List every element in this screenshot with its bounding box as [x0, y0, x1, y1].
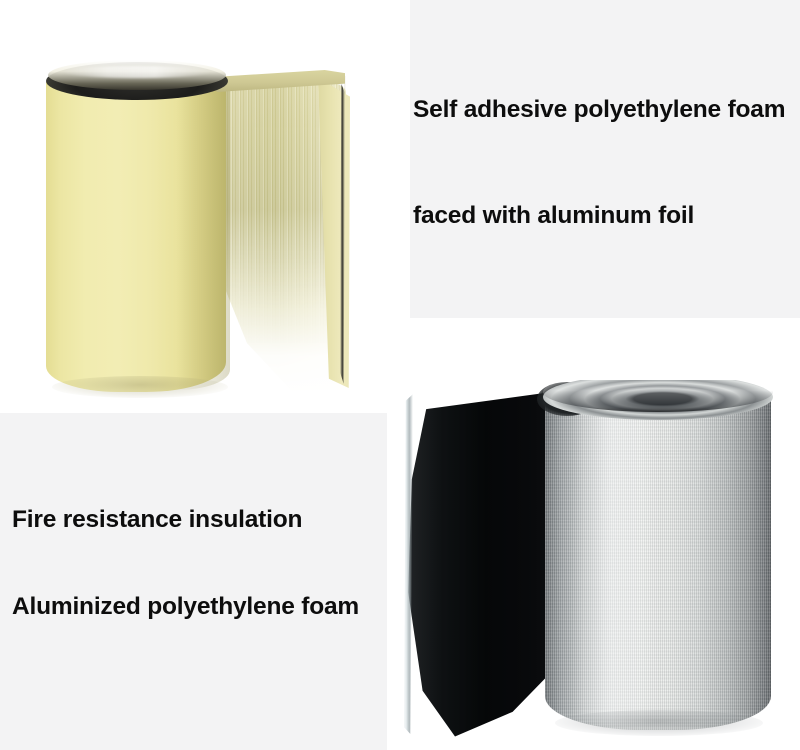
silver-roll-sheet-foil-edge [401, 394, 413, 734]
silver-foam-roll-photo [387, 380, 800, 750]
caption-top-right-line-2: faced with aluminum foil [413, 204, 694, 229]
yellow-roll-ground-shadow [52, 376, 228, 398]
caption-bottom-left-line-2: Aluminized polyethylene foam [12, 595, 359, 620]
product-collage: Self adhesive polyethylene foam faced wi… [0, 0, 800, 750]
top-right-caption-panel [410, 0, 800, 318]
silver-roll-specular-highlight [573, 396, 659, 726]
caption-bottom-left-line-1: Fire resistance insulation [12, 508, 302, 533]
yellow-roll-rim-highlight [62, 66, 212, 78]
yellow-roll-cylinder-shading [176, 84, 230, 390]
bottom-left-caption-panel [0, 413, 387, 750]
silver-roll-ground-shadow [555, 710, 763, 736]
caption-top-right-line-1: Self adhesive polyethylene foam [413, 98, 785, 123]
yellow-foam-roll-photo [0, 0, 410, 413]
